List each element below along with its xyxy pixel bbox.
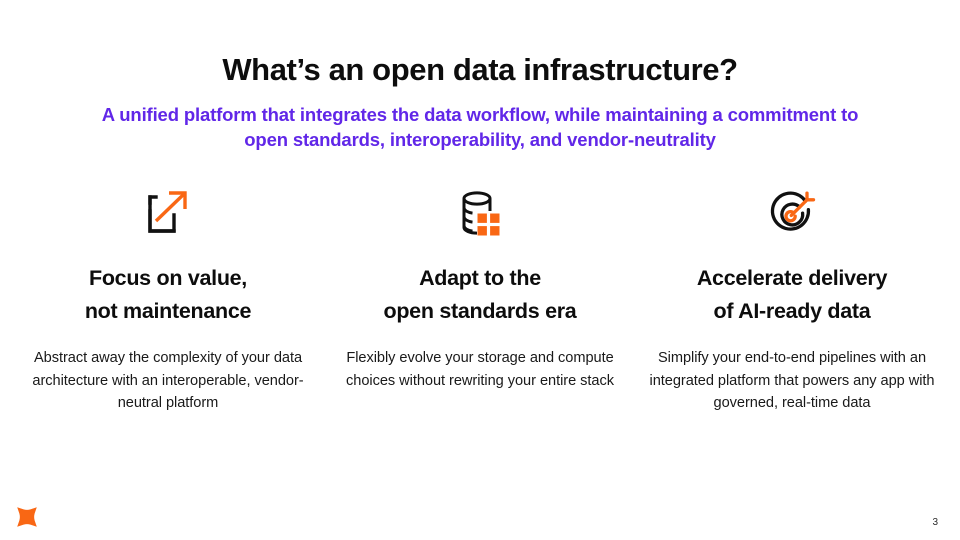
feature-body: Abstract away the complexity of your dat… xyxy=(22,347,314,414)
slide-header: What’s an open data infrastructure? A un… xyxy=(0,52,960,153)
feature-heading: Adapt to the open standards era xyxy=(384,262,577,327)
target-arrow-icon xyxy=(764,182,820,244)
feature-column-open-standards: Adapt to the open standards era Flexibly… xyxy=(336,182,624,392)
page-title: What’s an open data infrastructure? xyxy=(0,52,960,89)
feature-body: Flexibly evolve your storage and compute… xyxy=(336,347,624,391)
external-link-arrow-icon xyxy=(140,182,196,244)
feature-heading: Focus on value, not maintenance xyxy=(85,262,251,327)
feature-body: Simplify your end-to-end pipelines with … xyxy=(646,347,938,414)
feature-column-accelerate-delivery: Accelerate delivery of AI-ready data Sim… xyxy=(646,182,938,414)
feature-heading: Accelerate delivery of AI-ready data xyxy=(697,262,887,327)
feature-column-focus-on-value: Focus on value, not maintenance Abstract… xyxy=(22,182,314,414)
four-point-star-logo xyxy=(14,504,40,530)
page-subtitle: A unified platform that integrates the d… xyxy=(85,102,875,153)
slide-canvas: What’s an open data infrastructure? A un… xyxy=(0,0,960,540)
page-number: 3 xyxy=(932,517,938,528)
database-grid-icon xyxy=(452,182,508,244)
feature-columns: Focus on value, not maintenance Abstract… xyxy=(22,182,938,414)
